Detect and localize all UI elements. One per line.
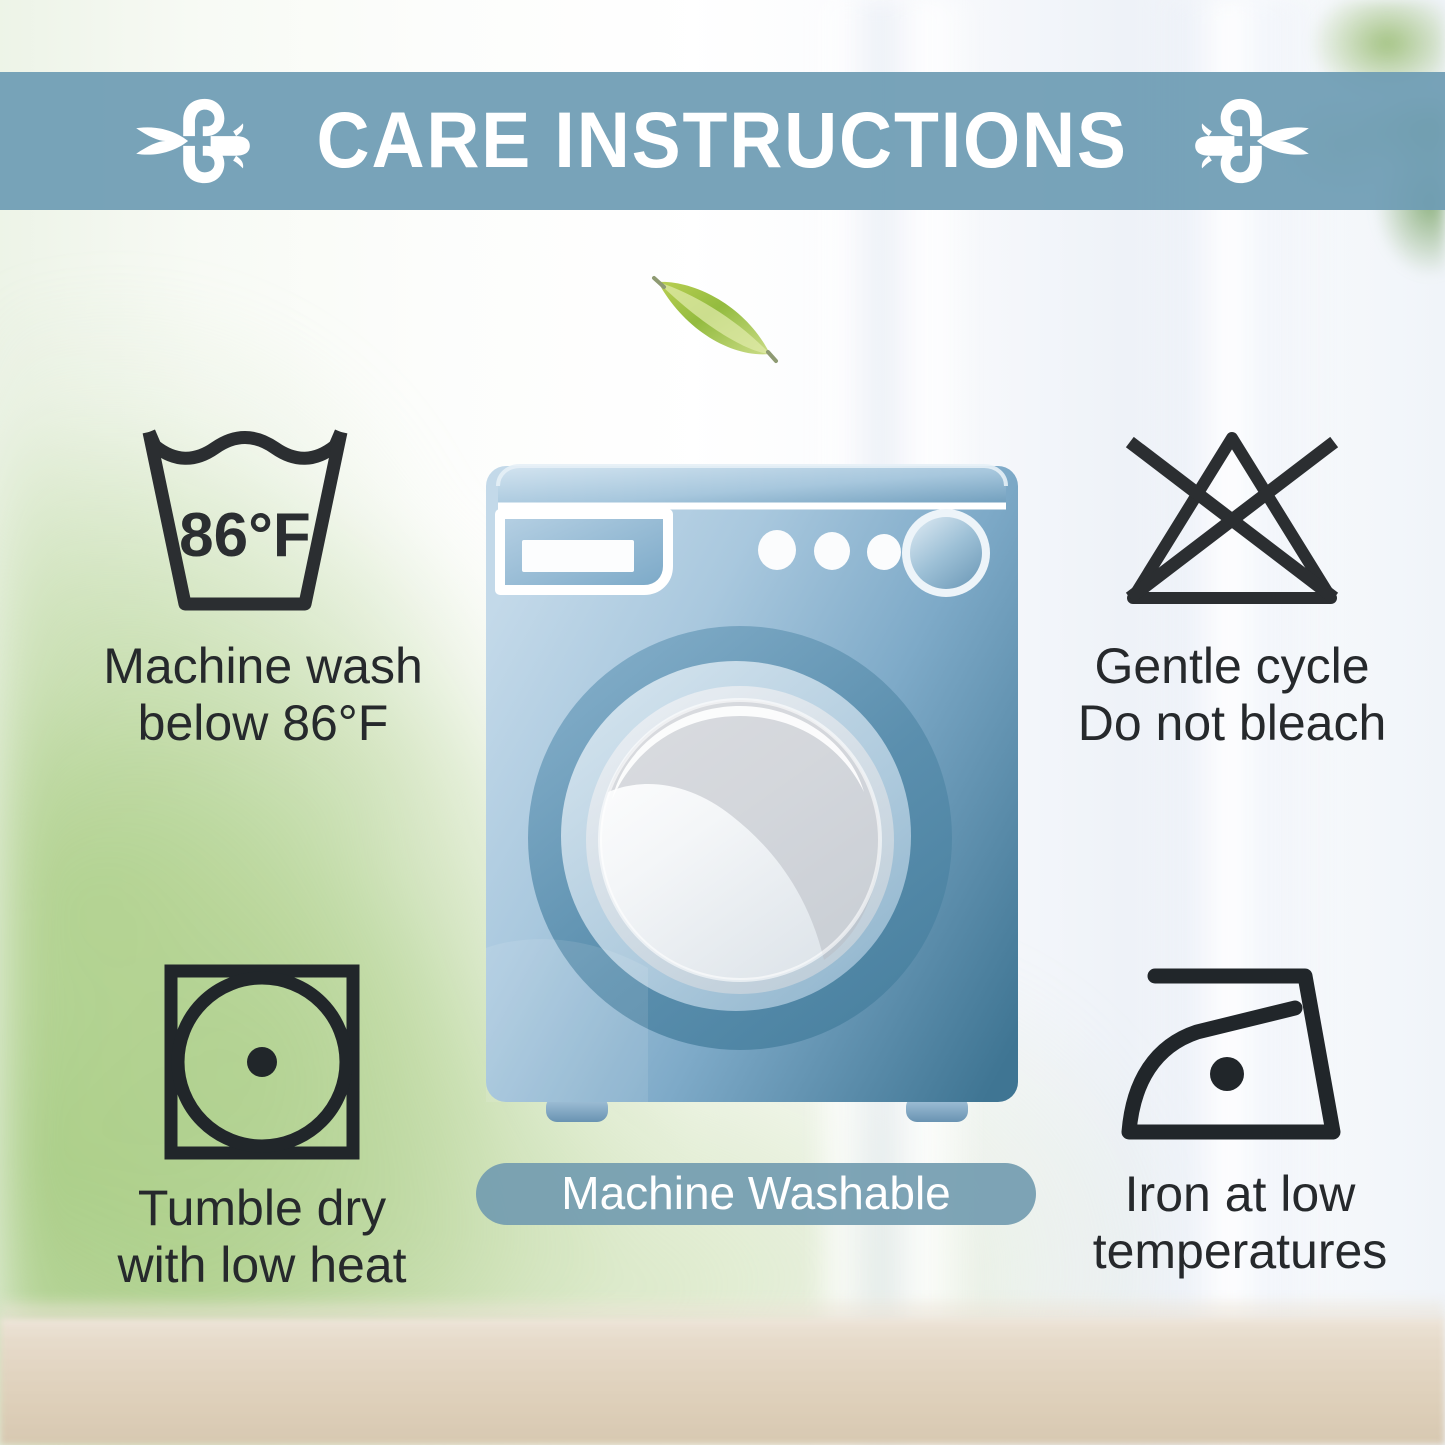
fleur-de-lis-icon — [134, 93, 252, 189]
care-label-line2: Do not bleach — [1022, 695, 1442, 752]
green-leaf-icon — [648, 268, 794, 368]
fleur-de-lis-icon — [1193, 93, 1311, 189]
washer-drawer-handle[interactable] — [522, 540, 634, 572]
washer-body-highlight — [486, 939, 648, 1102]
tumble-dry-square-circle-one-dot-icon — [162, 962, 362, 1162]
care-label-line2: below 86°F — [28, 695, 498, 752]
washer-indicator-light — [758, 530, 796, 570]
triangle-crossed-out-icon — [1107, 424, 1357, 614]
care-item-tumble-dry: Tumble dry with low heat — [42, 962, 482, 1293]
care-item-iron: Iron at low temperatures — [1040, 962, 1440, 1279]
header-banner: CARE INSTRUCTIONS — [0, 72, 1445, 210]
washer-indicator-light — [814, 532, 850, 570]
washer-indicator-light — [867, 534, 901, 570]
care-label-line2: temperatures — [1040, 1223, 1440, 1280]
care-label-do-not-bleach: Gentle cycle Do not bleach — [1022, 638, 1442, 751]
badge-label: Machine Washable — [561, 1170, 951, 1219]
care-item-do-not-bleach: Gentle cycle Do not bleach — [1022, 424, 1442, 751]
machine-washable-badge: Machine Washable — [476, 1163, 1036, 1225]
care-label-line2: with low heat — [42, 1237, 482, 1294]
care-label-line1: Tumble dry — [42, 1180, 482, 1237]
washer-top-panel — [498, 466, 1006, 506]
care-label-tumble-dry: Tumble dry with low heat — [42, 1180, 482, 1293]
washing-machine-icon — [478, 448, 1026, 1128]
care-label-machine-wash: Machine wash below 86°F — [28, 638, 498, 751]
washer-dial-knob[interactable] — [910, 517, 982, 589]
wash-tub-icon: 86°F — [137, 424, 389, 614]
iron-one-dot-icon — [1119, 962, 1361, 1148]
care-label-line1: Iron at low — [1040, 1166, 1440, 1223]
page-title: CARE INSTRUCTIONS — [317, 100, 1128, 183]
care-label-line1: Gentle cycle — [1022, 638, 1442, 695]
care-item-machine-wash: 86°F Machine wash below 86°F — [28, 424, 498, 751]
care-label-line1: Machine wash — [28, 638, 498, 695]
care-label-iron: Iron at low temperatures — [1040, 1166, 1440, 1279]
wash-temperature-value: 86°F — [179, 501, 311, 570]
care-instructions-infographic: CARE INSTRUCTIONS — [0, 0, 1445, 1445]
